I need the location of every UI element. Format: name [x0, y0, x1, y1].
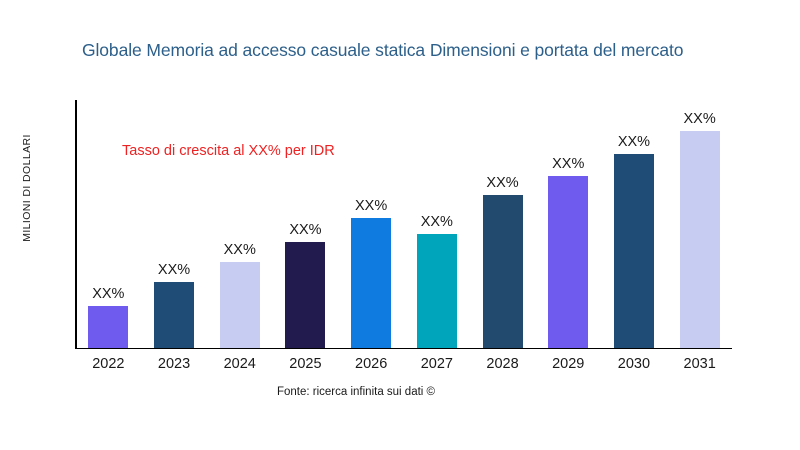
x-tick-2024: 2024 — [224, 356, 256, 372]
bar-group: XX% — [154, 282, 194, 348]
bar-group: XX% — [285, 242, 325, 348]
bar-2031[interactable] — [680, 131, 720, 347]
x-tick-2027: 2027 — [421, 356, 453, 372]
x-tick-2029: 2029 — [552, 356, 584, 372]
bar-2027[interactable] — [417, 234, 457, 347]
bar-2030[interactable] — [614, 154, 654, 347]
source-note: Fonte: ricerca infinita sui dati © — [0, 386, 712, 398]
bar-value-label: XX% — [224, 242, 256, 258]
bar-2024[interactable] — [220, 262, 260, 348]
bar-value-label: XX% — [618, 134, 650, 150]
bar-2025[interactable] — [285, 242, 325, 348]
bar-value-label: XX% — [684, 111, 716, 127]
bar-2023[interactable] — [154, 282, 194, 348]
bar-group: XX% — [417, 234, 457, 347]
x-tick-2022: 2022 — [92, 356, 124, 372]
x-tick-2028: 2028 — [486, 356, 518, 372]
bar-value-label: XX% — [289, 222, 321, 238]
x-tick-2030: 2030 — [618, 356, 650, 372]
x-tick-2023: 2023 — [158, 356, 190, 372]
bar-value-label: XX% — [421, 214, 453, 230]
bar-value-label: XX% — [355, 198, 387, 214]
chart-figure: Globale Memoria ad accesso casuale stati… — [0, 0, 800, 450]
x-tick-2025: 2025 — [289, 356, 321, 372]
plot-area: XX%2022XX%2023XX%2024XX%2025XX%2026XX%20… — [0, 0, 800, 450]
bar-group: XX% — [614, 154, 654, 347]
bar-2029[interactable] — [548, 176, 588, 347]
bar-2028[interactable] — [483, 195, 523, 347]
bar-group: XX% — [220, 262, 260, 348]
bar-group: XX% — [548, 176, 588, 347]
bar-value-label: XX% — [552, 156, 584, 172]
bar-group: XX% — [483, 195, 523, 347]
x-tick-2031: 2031 — [684, 356, 716, 372]
bar-group: XX% — [88, 306, 128, 348]
growth-rate-annotation: Tasso di crescita al XX% per IDR — [122, 143, 335, 159]
bar-value-label: XX% — [92, 286, 124, 302]
x-tick-2026: 2026 — [355, 356, 387, 372]
bar-group: XX% — [680, 131, 720, 347]
bar-2026[interactable] — [351, 218, 391, 347]
bar-group: XX% — [351, 218, 391, 347]
bar-2022[interactable] — [88, 306, 128, 348]
bar-value-label: XX% — [486, 175, 518, 191]
bar-value-label: XX% — [158, 262, 190, 278]
